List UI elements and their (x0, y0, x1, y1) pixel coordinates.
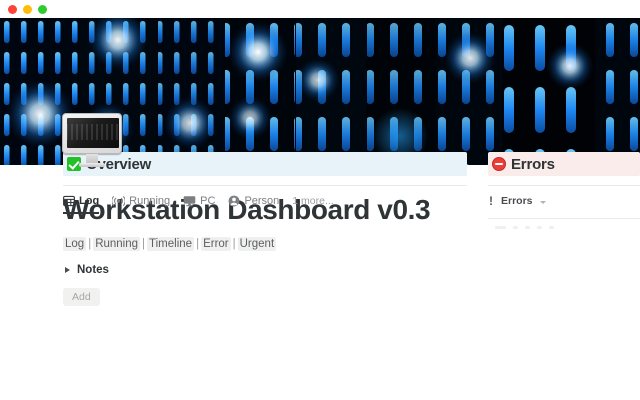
window-titlebar (0, 0, 640, 18)
monitor-glass (67, 118, 119, 148)
tab-log-label: Log (79, 195, 99, 207)
errors-row-divider (488, 218, 640, 219)
errors-placeholder-row (488, 226, 640, 229)
monitor-foot (79, 163, 105, 167)
errors-divider (488, 185, 640, 186)
tab-running[interactable]: Running (112, 190, 170, 212)
triangle-right-icon[interactable] (65, 267, 70, 273)
notes-toggle[interactable]: Notes (63, 261, 616, 278)
no-entry-icon (492, 157, 506, 171)
app-window: Workstation Dashboard v0.3 Log|Running|T… (0, 0, 640, 400)
tab-running-label: Running (129, 195, 170, 207)
monitor-body (62, 113, 122, 154)
crumb-timeline[interactable]: Timeline (147, 237, 194, 251)
overview-database-column: Overview Log (63, 152, 467, 229)
notes-toggle-label: Notes (77, 264, 109, 276)
minimize-button[interactable] (23, 5, 32, 14)
monitor-neck (86, 154, 98, 163)
tabs-more-button[interactable]: 1 more... (292, 195, 333, 207)
placeholder-bar (549, 226, 554, 229)
placeholder-bar (537, 226, 542, 229)
person-icon (228, 195, 240, 207)
placeholder-bar (495, 226, 506, 229)
tab-pc-label: PC (200, 195, 215, 207)
maximize-button[interactable] (38, 5, 47, 14)
tab-person[interactable]: Person (228, 190, 279, 212)
errors-view-label: Errors (501, 195, 533, 207)
tab-person-label: Person (244, 195, 279, 207)
breadcrumb: Log|Running|Timeline|Error|Urgent (63, 237, 616, 251)
crumb-separator: | (231, 238, 238, 250)
crumb-log[interactable]: Log (63, 237, 86, 251)
chevron-down-icon[interactable] (540, 201, 546, 204)
crumb-error[interactable]: Error (201, 237, 231, 251)
crumb-urgent[interactable]: Urgent (238, 237, 277, 251)
crumb-separator: | (140, 238, 147, 250)
antenna-icon (112, 195, 125, 207)
desktop-computer-icon[interactable] (62, 113, 122, 169)
overview-database-header[interactable]: Overview (63, 152, 467, 176)
monitor-icon (183, 195, 196, 207)
errors-database-header[interactable]: Errors (488, 152, 640, 176)
overview-divider (63, 185, 467, 186)
overview-view-tabs: Log Running (63, 190, 467, 212)
placeholder-bar (513, 226, 518, 229)
add-button[interactable]: Add (63, 288, 100, 306)
close-button[interactable] (8, 5, 17, 14)
crumb-running[interactable]: Running (93, 237, 140, 251)
crumb-separator: | (194, 238, 201, 250)
tab-log[interactable]: Log (63, 190, 99, 212)
exclamation-icon: ! (488, 194, 494, 208)
tab-pc[interactable]: PC (183, 190, 215, 212)
database-columns: Overview Log (63, 152, 640, 229)
errors-database-column: Errors ! Errors (488, 152, 640, 229)
errors-database-title: Errors (511, 156, 555, 173)
placeholder-bar (525, 226, 530, 229)
table-icon (63, 195, 75, 207)
errors-view-row[interactable]: ! Errors (488, 191, 640, 211)
